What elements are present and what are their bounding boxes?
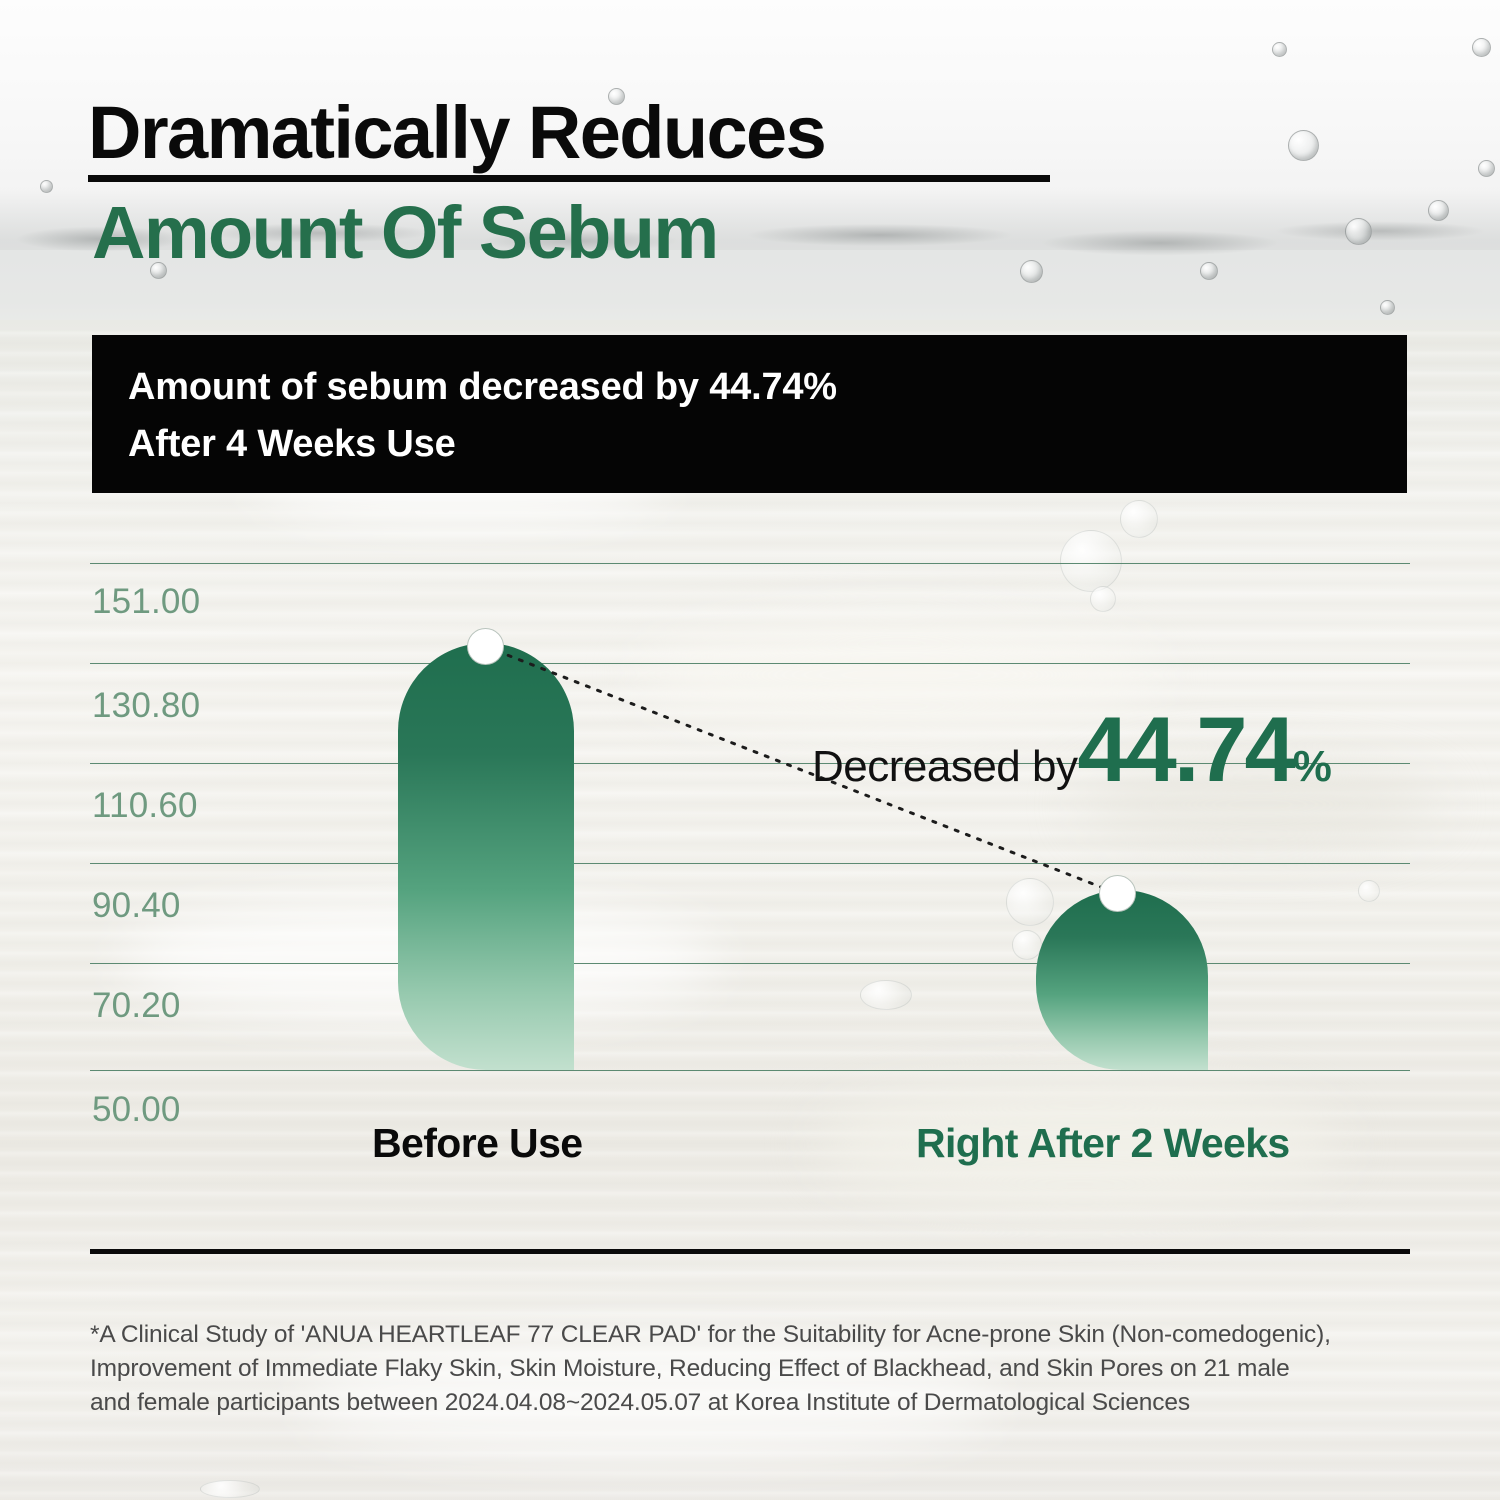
footnote-line-1: *A Clinical Study of 'ANUA HEARTLEAF 77 …	[90, 1318, 1440, 1352]
decrease-callout-value: 44.74	[1077, 704, 1292, 796]
footnote: *A Clinical Study of 'ANUA HEARTLEAF 77 …	[90, 1318, 1440, 1420]
decrease-callout-unit: %	[1293, 742, 1332, 792]
x-axis-label-before: Before Use	[372, 1120, 582, 1167]
footnote-line-2: Improvement of Immediate Flaky Skin, Ski…	[90, 1352, 1440, 1386]
footer-divider	[90, 1249, 1410, 1254]
sebum-bar-chart: 151.00 130.80 110.60 90.40 70.20 50.00 D…	[0, 0, 1500, 1500]
data-point-marker-after	[1099, 875, 1136, 912]
x-axis-label-after: Right After 2 Weeks	[916, 1120, 1290, 1167]
decrease-callout: Decreased by 44.74 %	[812, 704, 1332, 796]
footnote-line-3: and female participants between 2024.04.…	[90, 1386, 1440, 1420]
decrease-callout-label: Decreased by	[812, 742, 1077, 792]
data-point-marker-before	[467, 628, 504, 665]
